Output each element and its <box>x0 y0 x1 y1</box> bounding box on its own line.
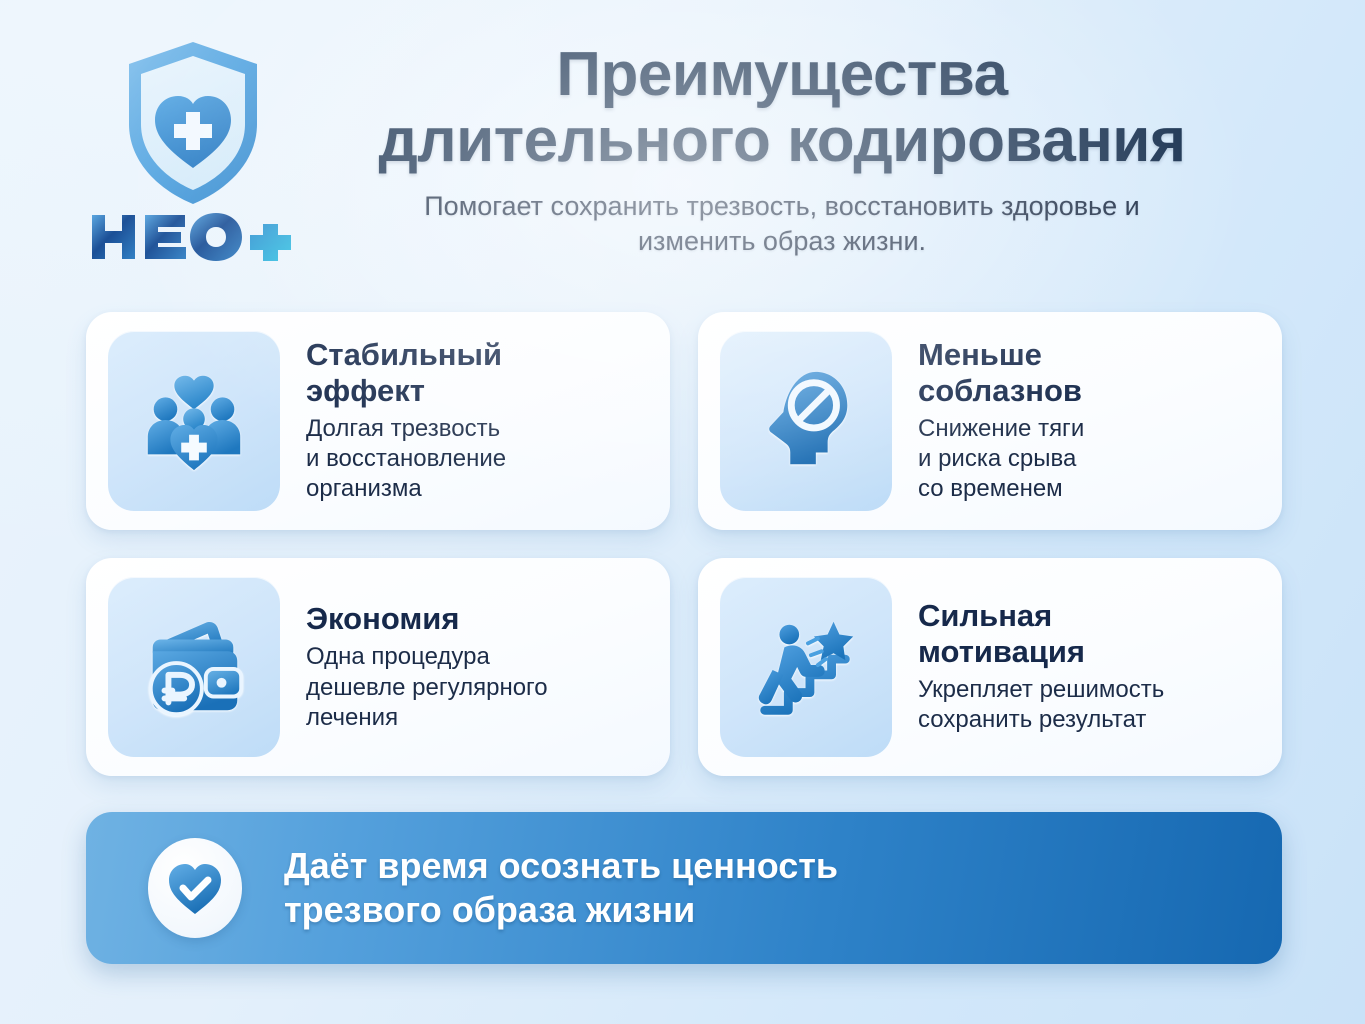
card-text: Сильная мотивация Укрепляет решимость со… <box>892 598 1170 735</box>
infographic-poster: Преимущества длительного кодирования Пом… <box>0 0 1365 1024</box>
card-desc-line-2: дешевле регулярного <box>306 674 548 701</box>
card-title-line-1: Сильная <box>918 598 1052 633</box>
page-subtitle: Помогает сохранить трезвость, восстанови… <box>412 189 1152 260</box>
heart-check-icon <box>165 858 225 918</box>
card-desc-line-1: Одна процедура <box>306 643 490 670</box>
benefit-card-savings[interactable]: Экономия Одна процедура дешевле регулярн… <box>86 558 670 776</box>
card-text: Стабильный эффект Долгая трезвость и вос… <box>280 337 512 504</box>
page-title: Преимущества длительного кодирования <box>272 42 1292 175</box>
benefit-card-motivation[interactable]: Сильная мотивация Укрепляет решимость со… <box>698 558 1282 776</box>
card-title-line-1: Стабильный <box>306 337 502 372</box>
family-heart-plus-icon <box>135 362 253 480</box>
card-desc-line-1: Долгая трезвость <box>306 415 500 442</box>
card-desc-line-1: Снижение тяги <box>918 415 1084 442</box>
card-desc-line-2: и риска срыва <box>918 445 1076 472</box>
card-description: Долгая трезвость и восстановление органи… <box>306 414 506 505</box>
stairs-star-person-icon <box>747 608 865 726</box>
card-title-line-1: Экономия <box>306 601 459 636</box>
title-line-2: длительного кодирования <box>272 108 1292 174</box>
benefit-card-fewer-temptations[interactable]: Меньше соблазнов Снижение тяги и риска с… <box>698 312 1282 530</box>
card-title-line-2: мотивация <box>918 634 1085 669</box>
icon-tile <box>720 331 892 511</box>
card-desc-line-2: и восстановление <box>306 445 506 472</box>
header: Преимущества длительного кодирования Пом… <box>0 0 1365 300</box>
card-title: Экономия <box>306 601 548 636</box>
banner-line-1: Даёт время осознать ценность <box>284 844 838 888</box>
benefit-card-stable-effect[interactable]: Стабильный эффект Долгая трезвость и вос… <box>86 312 670 530</box>
card-desc-line-1: Укрепляет решимость <box>918 676 1164 703</box>
card-title: Меньше соблазнов <box>918 337 1084 408</box>
title-line-1: Преимущества <box>556 40 1007 109</box>
card-text: Экономия Одна процедура дешевле регулярн… <box>280 601 554 733</box>
wallet-ruble-icon <box>135 608 253 726</box>
banner-text: Даёт время осознать ценность трезвого об… <box>242 844 838 932</box>
card-text: Меньше соблазнов Снижение тяги и риска с… <box>892 337 1090 504</box>
brand-wordmark <box>88 210 298 264</box>
card-title: Сильная мотивация <box>918 598 1164 669</box>
card-title-line-2: эффект <box>306 373 425 408</box>
shield-heart-plus-icon <box>119 38 267 208</box>
card-description: Укрепляет решимость сохранить результат <box>918 675 1164 735</box>
card-title: Стабильный эффект <box>306 337 506 408</box>
icon-tile <box>108 331 280 511</box>
subtitle-line-1: Помогает сохранить трезвость, восстанови… <box>424 191 993 221</box>
card-description: Одна процедура дешевле регулярного лечен… <box>306 642 548 733</box>
card-desc-line-3: организма <box>306 475 422 502</box>
head-prohibition-icon <box>747 362 865 480</box>
card-desc-line-3: лечения <box>306 704 398 731</box>
banner-badge <box>148 838 242 938</box>
card-desc-line-3: со временем <box>918 475 1063 502</box>
icon-tile <box>108 577 280 757</box>
card-title-line-1: Меньше <box>918 337 1042 372</box>
summary-banner[interactable]: Даёт время осознать ценность трезвого об… <box>86 812 1282 964</box>
banner-line-2: трезвого образа жизни <box>284 888 838 932</box>
card-title-line-2: соблазнов <box>918 373 1082 408</box>
icon-tile <box>720 577 892 757</box>
card-desc-line-2: сохранить результат <box>918 706 1146 733</box>
benefit-card-grid: Стабильный эффект Долгая трезвость и вос… <box>86 312 1282 776</box>
title-block: Преимущества длительного кодирования Пом… <box>272 42 1292 260</box>
card-description: Снижение тяги и риска срыва со временем <box>918 414 1084 505</box>
